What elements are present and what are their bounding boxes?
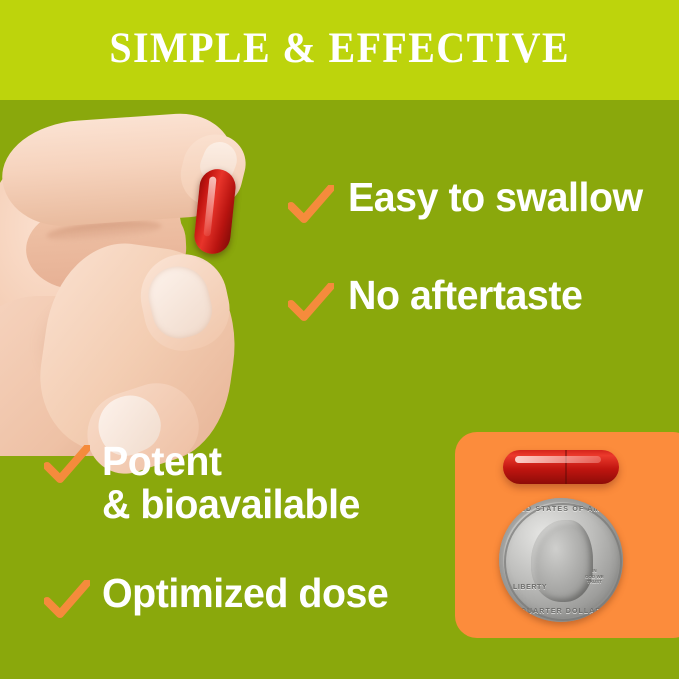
- capsule-icon: [503, 450, 619, 484]
- quarter-coin-image: UNITED STATES OF AMERICA LIBERTY IN GOD …: [499, 498, 623, 622]
- hand-holding-capsule-image: [0, 96, 274, 426]
- check-icon: [44, 445, 90, 485]
- benefit-item-no-aftertaste: No aftertaste: [288, 274, 592, 323]
- benefit-label: Potent & bioavailable: [102, 440, 360, 525]
- benefit-label: Optimized dose: [102, 572, 388, 615]
- page-title: SIMPLE & EFFECTIVE: [109, 27, 570, 74]
- benefit-item-potent-bioavailable: Potent & bioavailable: [44, 440, 371, 525]
- coin-bottom-legend: QUARTER DOLLAR: [499, 608, 623, 615]
- benefit-item-optimized-dose: Optimized dose: [44, 572, 400, 620]
- coin-motto-text: IN GOD WE TRUST: [585, 568, 604, 585]
- check-icon: [288, 185, 334, 225]
- check-icon: [288, 283, 334, 323]
- benefit-label: Easy to swallow: [348, 176, 643, 219]
- header-band: SIMPLE & EFFECTIVE: [0, 0, 679, 100]
- coin-liberty-text: LIBERTY: [513, 584, 547, 591]
- size-comparison-card: UNITED STATES OF AMERICA LIBERTY IN GOD …: [455, 432, 679, 638]
- coin-top-legend: UNITED STATES OF AMERICA: [499, 506, 623, 513]
- check-icon: [44, 580, 90, 620]
- product-benefits-infographic: SIMPLE & EFFECTIVE Easy to swallow No af…: [0, 0, 679, 679]
- benefit-item-easy-to-swallow: Easy to swallow: [288, 176, 655, 225]
- benefit-label: No aftertaste: [348, 274, 582, 317]
